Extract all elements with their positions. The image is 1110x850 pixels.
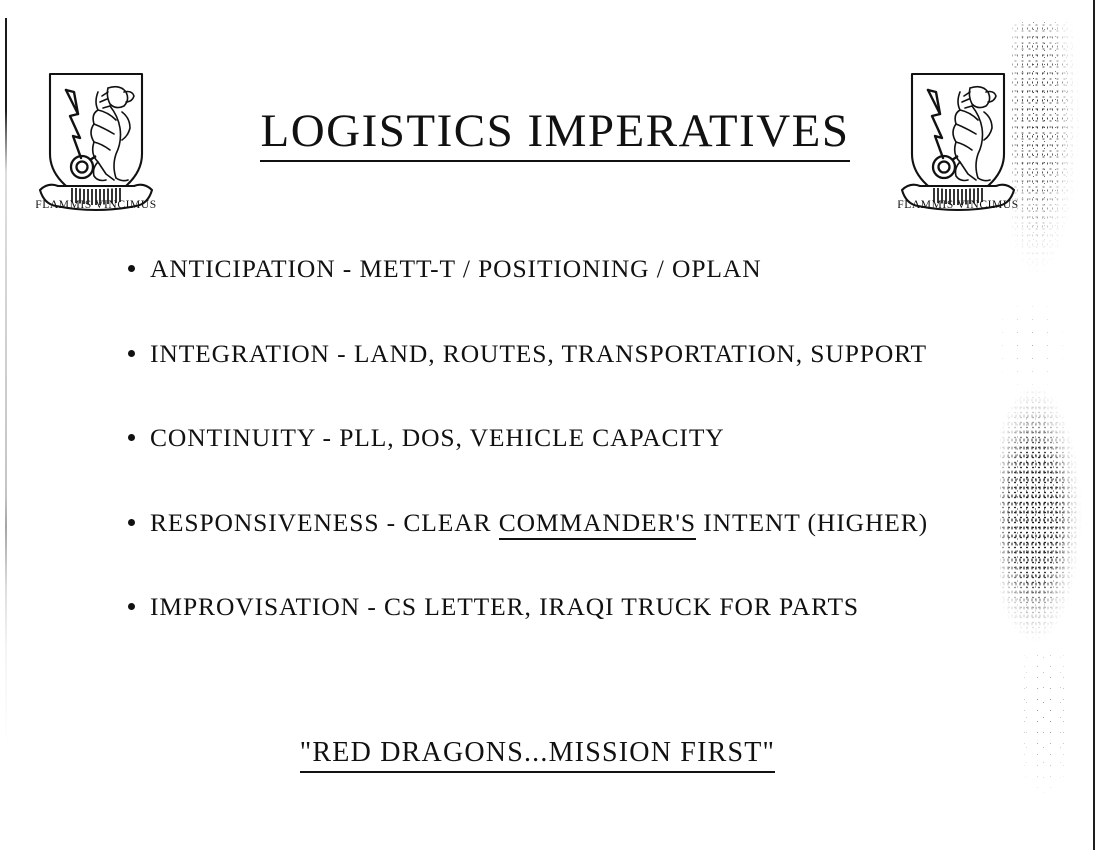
crest-banner-text-left: FLAMMIS VINCIMUS	[36, 199, 156, 211]
list-item: ANTICIPATION - METT-T / POSITIONING / OP…	[126, 256, 1026, 341]
list-item-text-before: ANTICIPATION - METT-T / POSITIONING / OP…	[150, 254, 762, 283]
list-item: IMPROVISATION - CS LETTER, IRAQI TRUCK F…	[126, 594, 1026, 679]
list-item-emphasis: COMMANDER'S	[499, 508, 696, 540]
scanned-slide-page: FLAMMIS VINCIMUS	[0, 0, 1110, 850]
slide-motto: "RED DRAGONS...MISSION FIRST"	[0, 737, 1075, 769]
bullet-dot-icon	[128, 434, 135, 441]
bullet-dot-icon	[128, 350, 135, 357]
list-item-text: INTEGRATION - LAND, ROUTES, TRANSPORTATI…	[150, 341, 927, 367]
list-item-text: IMPROVISATION - CS LETTER, IRAQI TRUCK F…	[150, 594, 859, 620]
list-item-text-before: RESPONSIVENESS - CLEAR	[150, 508, 499, 537]
list-item-text-before: IMPROVISATION - CS LETTER, IRAQI TRUCK F…	[150, 592, 859, 621]
list-item-text: ANTICIPATION - METT-T / POSITIONING / OP…	[150, 256, 762, 282]
imperatives-list: ANTICIPATION - METT-T / POSITIONING / OP…	[126, 256, 1026, 679]
list-item-text-before: INTEGRATION - LAND, ROUTES, TRANSPORTATI…	[150, 339, 927, 368]
bullet-dot-icon	[128, 519, 135, 526]
list-item: RESPONSIVENESS - CLEAR COMMANDER'S INTEN…	[126, 510, 1026, 595]
list-item-text: CONTINUITY - PLL, DOS, VEHICLE CAPACITY	[150, 425, 725, 451]
list-item-text-before: CONTINUITY - PLL, DOS, VEHICLE CAPACITY	[150, 423, 725, 452]
list-item-text: RESPONSIVENESS - CLEAR COMMANDER'S INTEN…	[150, 510, 928, 536]
bullet-dot-icon	[128, 603, 135, 610]
list-item: CONTINUITY - PLL, DOS, VEHICLE CAPACITY	[126, 425, 1026, 510]
crest-banner-text-right: FLAMMIS VINCIMUS	[898, 199, 1018, 211]
list-item: INTEGRATION - LAND, ROUTES, TRANSPORTATI…	[126, 341, 1026, 426]
list-item-text-after: INTENT (HIGHER)	[696, 508, 928, 537]
slide-motto-text: "RED DRAGONS...MISSION FIRST"	[300, 737, 775, 773]
bullet-dot-icon	[128, 265, 135, 272]
slide-title: LOGISTICS IMPERATIVES	[0, 104, 1110, 158]
slide-title-text: LOGISTICS IMPERATIVES	[260, 105, 849, 162]
